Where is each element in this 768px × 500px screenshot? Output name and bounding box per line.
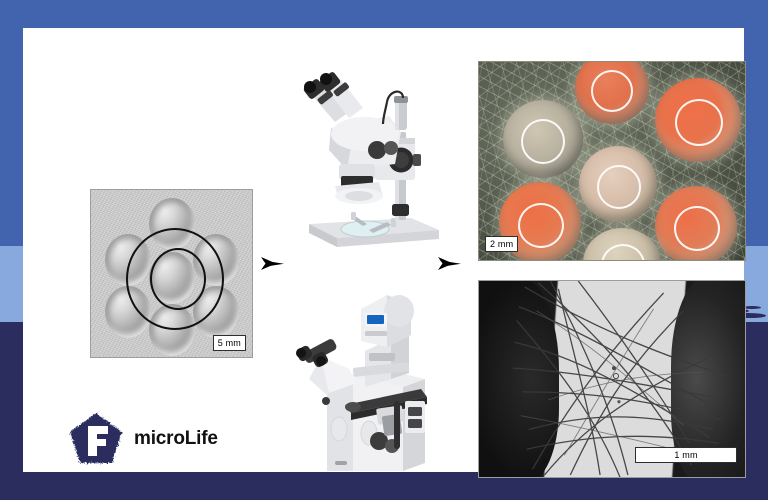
pentagon-f-icon [67, 411, 125, 467]
microlife-wordmark: microLife [134, 428, 218, 450]
colony-lumen [521, 119, 565, 164]
microlife-logo: microLife [67, 411, 218, 467]
colony-lumen [601, 244, 645, 261]
panel-inverted-microscope [291, 283, 451, 478]
scalebar-label-2mm: 2 mm [485, 236, 518, 252]
colony [655, 186, 737, 261]
panel-hyphae-micrograph: 1 mm [478, 280, 746, 478]
colony-lumen [591, 70, 633, 112]
panel-well-plate-photo: 5 mm [90, 189, 253, 358]
figure-card: 5 mm [23, 28, 744, 472]
scalebar-label-1mm: 1 mm [635, 447, 737, 463]
inverted-microscope-icon [291, 283, 451, 478]
right-arrow-icon [260, 252, 286, 276]
annotation-ring-inner [150, 248, 206, 310]
microscope-display-screen [367, 315, 384, 324]
figure-root: 5 mm [0, 0, 768, 500]
colony-lumen [597, 165, 641, 209]
stereo-microscope-icon [291, 72, 451, 262]
colony [503, 100, 583, 178]
colony-lumen [675, 99, 723, 146]
colony-lumen [674, 206, 720, 251]
panel-colony-macrograph: 2 mm [478, 61, 746, 261]
right-arrow-icon [437, 252, 463, 276]
microlife-pentagon-mark [67, 411, 125, 467]
colony [655, 78, 741, 162]
panel-stereo-microscope [291, 72, 451, 262]
scalebar-label-5mm: 5 mm [213, 335, 246, 351]
colony-lumen [518, 203, 564, 248]
colony [579, 146, 657, 222]
